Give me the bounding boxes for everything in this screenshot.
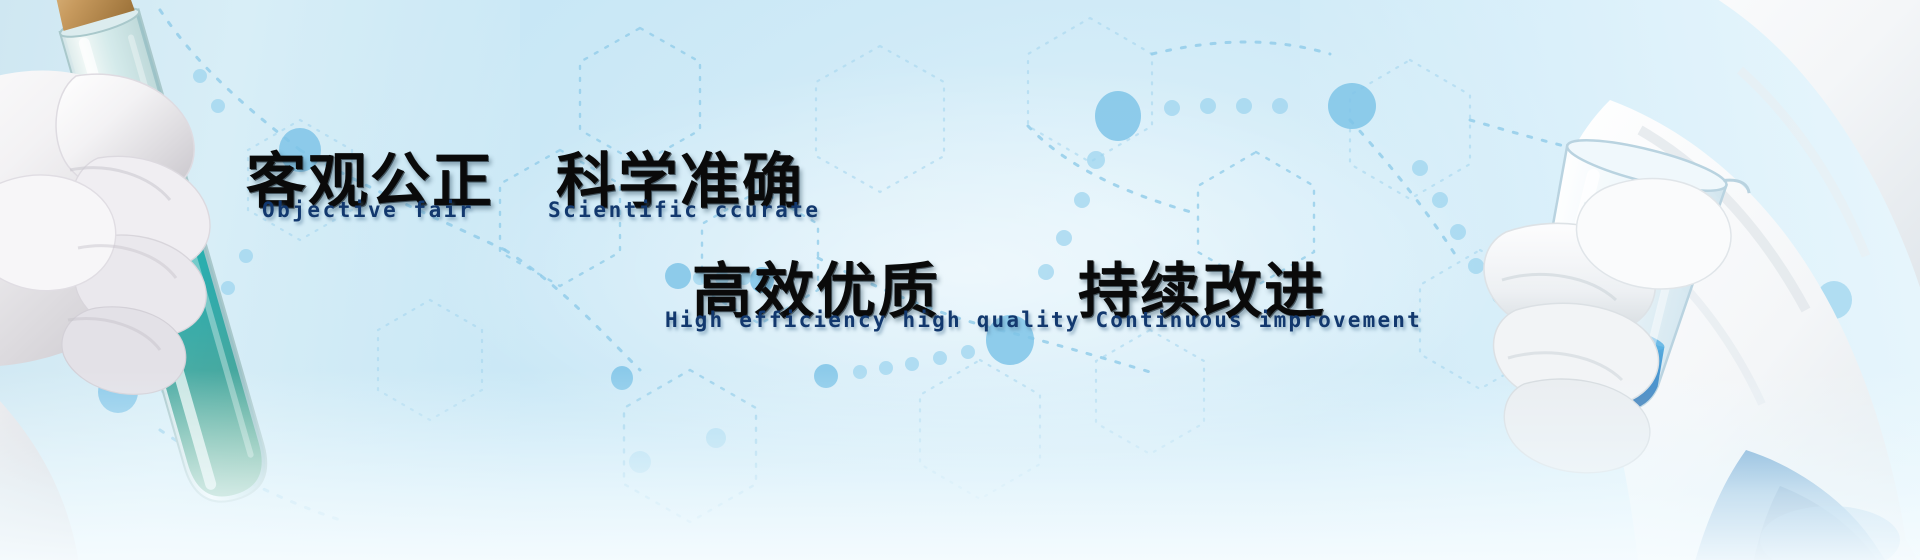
slogan-group: 客观公正 Objective fair 科学准确 Scientific ccur… bbox=[0, 0, 1920, 560]
slogan-en-bottom-line: High efficiency high quality Continuous … bbox=[665, 308, 1422, 332]
slogan-en-objective-fair: Objective fair bbox=[262, 198, 474, 222]
lab-hero-banner: .hx{fill:none;stroke:#8fcbe8;stroke-widt… bbox=[0, 0, 1920, 560]
slogan-en-scientific-accurate: Scientific ccurate bbox=[548, 198, 821, 222]
